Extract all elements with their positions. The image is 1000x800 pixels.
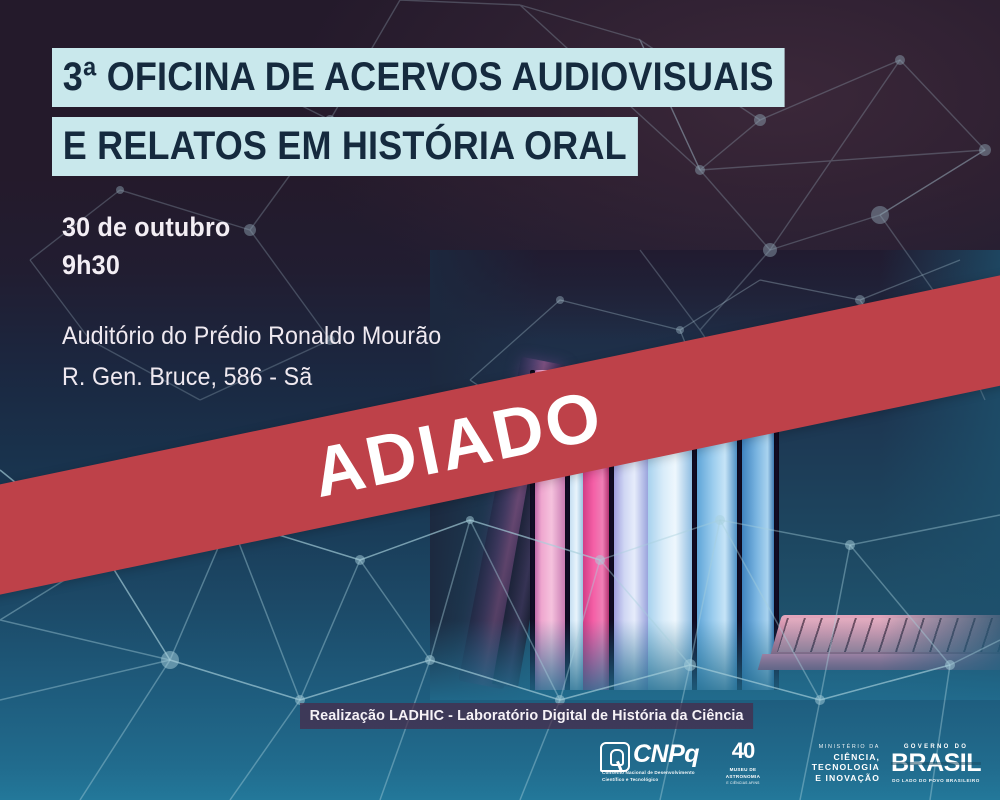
event-date: 30 de outubro	[62, 212, 230, 243]
poster-title: 3ª OFICINA DE ACERVOS AUDIOVISUAIS E REL…	[52, 48, 1000, 176]
cnpq-subtitle: Conselho Nacional de Desenvolvimento Cie…	[602, 770, 710, 784]
ministry-line-3: E INOVAÇÃO	[776, 773, 880, 783]
government-logo: GOVERNO DO BRASIL DO LADO DO POVO BRASIL…	[884, 744, 988, 783]
logo-strip: CNPq Conselho Nacional de Desenvolviment…	[600, 733, 990, 793]
mast-anniversary-number: 40	[732, 740, 754, 762]
cnpq-wordmark: CNPq	[633, 740, 699, 769]
ministry-logo: MINISTÉRIO DA CIÊNCIA, TECNOLOGIA E INOV…	[776, 744, 884, 783]
mast-line-2: ASTRONOMIA	[726, 774, 760, 779]
brasil-bar-decoration	[891, 762, 981, 765]
title-line-2: E RELATOS EM HISTÓRIA ORAL	[52, 117, 638, 176]
event-datetime: 30 de outubro 9h30	[62, 212, 243, 281]
government-line-3: DO LADO DO POVO BRASILEIRO	[884, 778, 988, 783]
title-line-1: 3ª OFICINA DE ACERVOS AUDIOVISUAIS	[52, 48, 784, 107]
mast-subtitle: MUSEU DE ASTRONOMIA E CIÊNCIAS AFINS	[710, 766, 776, 786]
ministry-line-2: CIÊNCIA, TECNOLOGIA	[776, 752, 880, 772]
event-time: 9h30	[62, 250, 230, 281]
venue-address: R. Gen. Bruce, 586 - Sã	[62, 363, 441, 392]
organizer-credit: Realização LADHIC - Laboratório Digital …	[300, 703, 753, 729]
ministry-line-1: MINISTÉRIO DA	[776, 744, 880, 750]
mast-line-1: MUSEU DE	[730, 767, 757, 772]
mast-logo: 40 MUSEU DE ASTRONOMIA E CIÊNCIAS AFINS	[710, 737, 776, 789]
cnpq-logo: CNPq Conselho Nacional de Desenvolviment…	[600, 738, 710, 788]
cnpq-icon	[600, 742, 630, 772]
event-venue: Auditório do Prédio Ronaldo Mourão R. Ge…	[62, 322, 470, 392]
government-brasil-wordmark: BRASIL	[891, 751, 981, 776]
mast-line-3: E CIÊNCIAS AFINS	[710, 781, 776, 786]
venue-name: Auditório do Prédio Ronaldo Mourão	[62, 322, 441, 351]
event-poster: 3ª OFICINA DE ACERVOS AUDIOVISUAIS E REL…	[0, 0, 1000, 800]
